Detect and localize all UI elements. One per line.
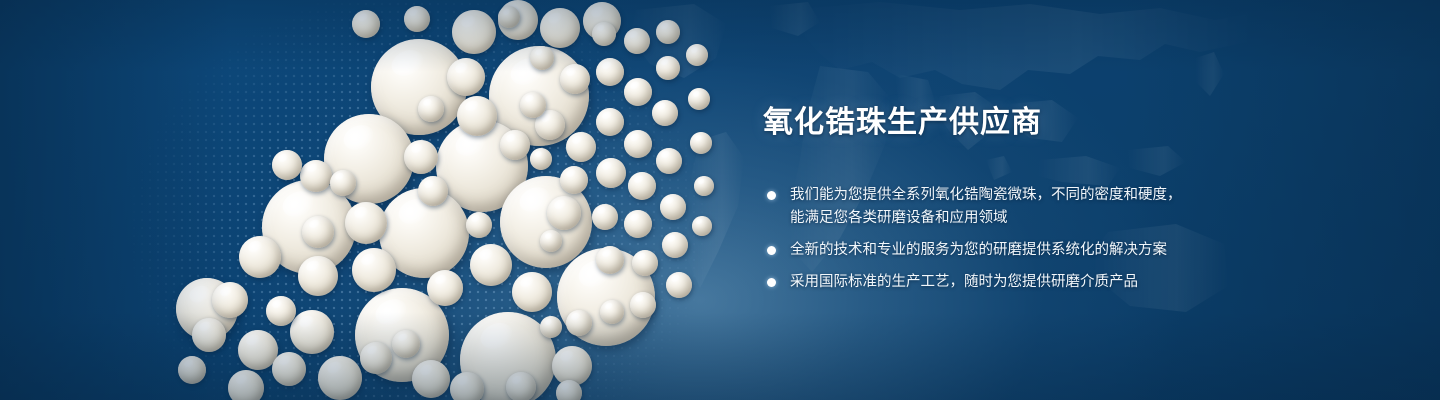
bullet-dot-icon bbox=[767, 191, 776, 200]
list-item-line-1: 采用国际标准的生产工艺，随时为您提供研磨介质产品 bbox=[790, 271, 1283, 294]
hero-banner: 氧化锆珠生产供应商 我们能为您提供全系列氧化锆陶瓷微珠，不同的密度和硬度， 能满… bbox=[0, 0, 1440, 400]
bullet-dot-icon bbox=[767, 246, 776, 255]
zirconia-beads-photo bbox=[0, 0, 780, 400]
list-item-line-1: 全新的技术和专业的服务为您的研磨提供系统化的解决方案 bbox=[790, 239, 1283, 262]
list-item-line-2: 能满足您各类研磨设备和应用领域 bbox=[790, 207, 1283, 230]
banner-copy: 氧化锆珠生产供应商 我们能为您提供全系列氧化锆陶瓷微珠，不同的密度和硬度， 能满… bbox=[763, 104, 1283, 294]
list-item: 全新的技术和专业的服务为您的研磨提供系统化的解决方案 bbox=[763, 239, 1283, 262]
list-item: 采用国际标准的生产工艺，随时为您提供研磨介质产品 bbox=[763, 271, 1283, 294]
list-item-line-1: 我们能为您提供全系列氧化锆陶瓷微珠，不同的密度和硬度， bbox=[790, 184, 1283, 207]
bullet-dot-icon bbox=[767, 278, 776, 287]
page-title: 氧化锆珠生产供应商 bbox=[763, 104, 1283, 142]
list-item: 我们能为您提供全系列氧化锆陶瓷微珠，不同的密度和硬度， 能满足您各类研磨设备和应… bbox=[763, 184, 1283, 230]
feature-list: 我们能为您提供全系列氧化锆陶瓷微珠，不同的密度和硬度， 能满足您各类研磨设备和应… bbox=[763, 184, 1283, 294]
